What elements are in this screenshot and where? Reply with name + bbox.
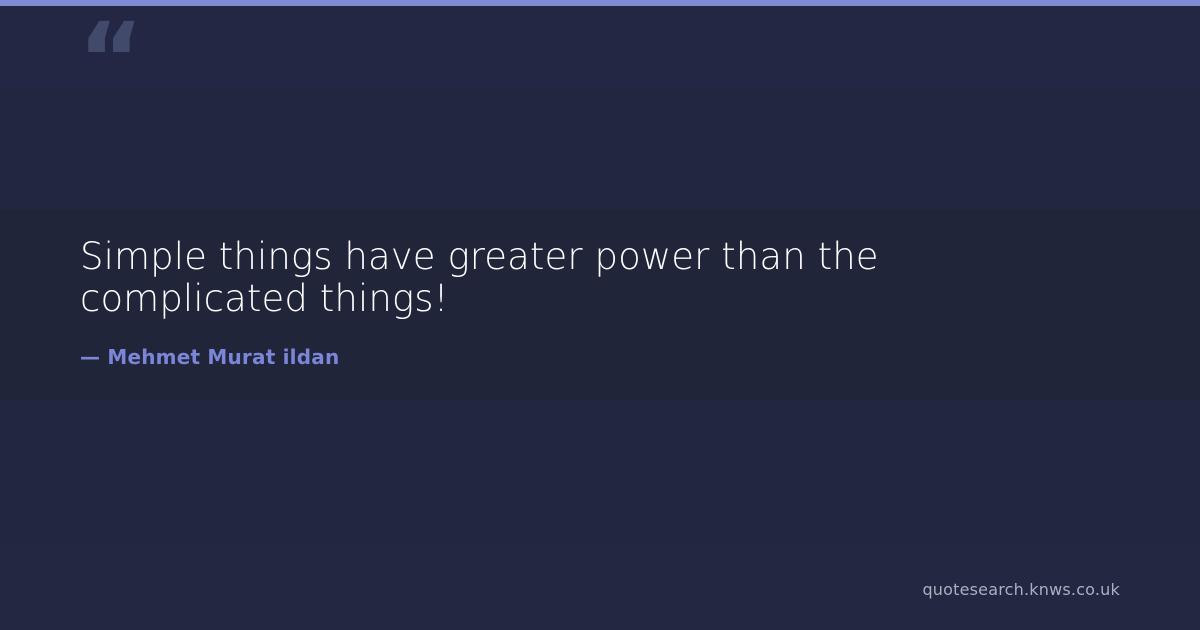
quote-card: “ Simple things have greater power than …: [0, 0, 1200, 630]
site-footer-url: quotesearch.knws.co.uk: [922, 580, 1120, 600]
opening-quotation-mark-icon: “: [78, 10, 142, 110]
top-accent-bar: [0, 0, 1200, 6]
quote-text: Simple things have greater power than th…: [80, 236, 960, 320]
quote-content-block: Simple things have greater power than th…: [80, 236, 960, 370]
quote-author-attribution: — Mehmet Murat ildan: [80, 320, 960, 370]
